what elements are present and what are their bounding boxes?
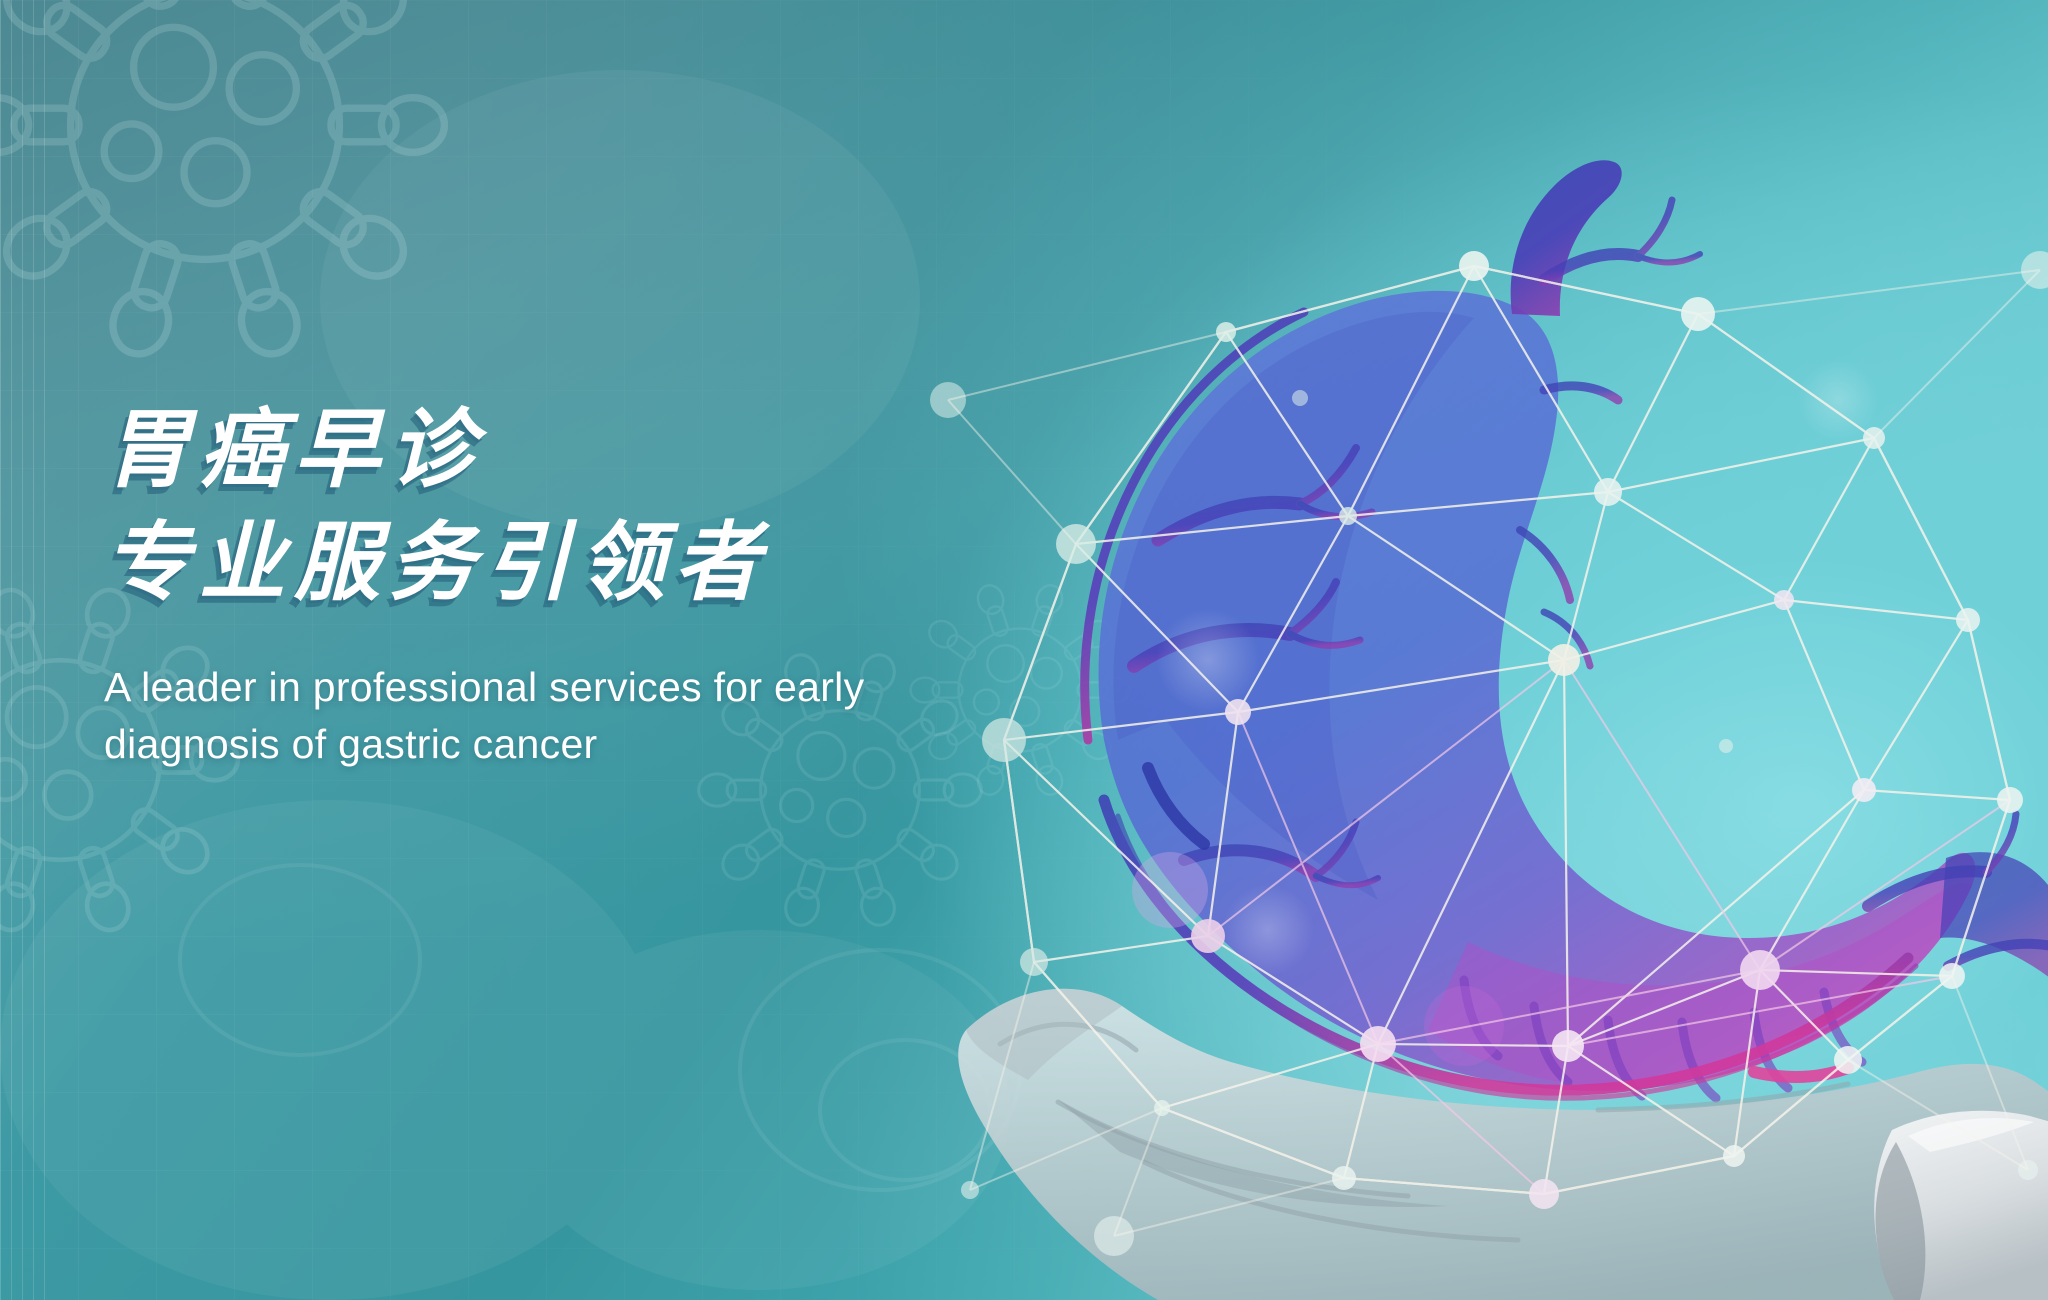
headline-line-2: 专业服务引领者 [104, 513, 1154, 614]
headline-line-1: 胃癌早诊 [104, 400, 1154, 501]
banner-root: 胃癌早诊 专业服务引领者 A leader in professional se… [0, 0, 2048, 1300]
stomach-ducts [1511, 160, 2048, 984]
left-edge-stripes [0, 0, 46, 1300]
subtitle-line-2: diagnosis of gastric cancer [104, 716, 1154, 773]
subtitle-line-1: A leader in professional services for ea… [104, 659, 1154, 716]
sleeve-cuff [1874, 1111, 2048, 1300]
subtitle-block: A leader in professional services for ea… [104, 659, 1154, 772]
banner-copy: 胃癌早诊 专业服务引领者 A leader in professional se… [104, 400, 1154, 772]
